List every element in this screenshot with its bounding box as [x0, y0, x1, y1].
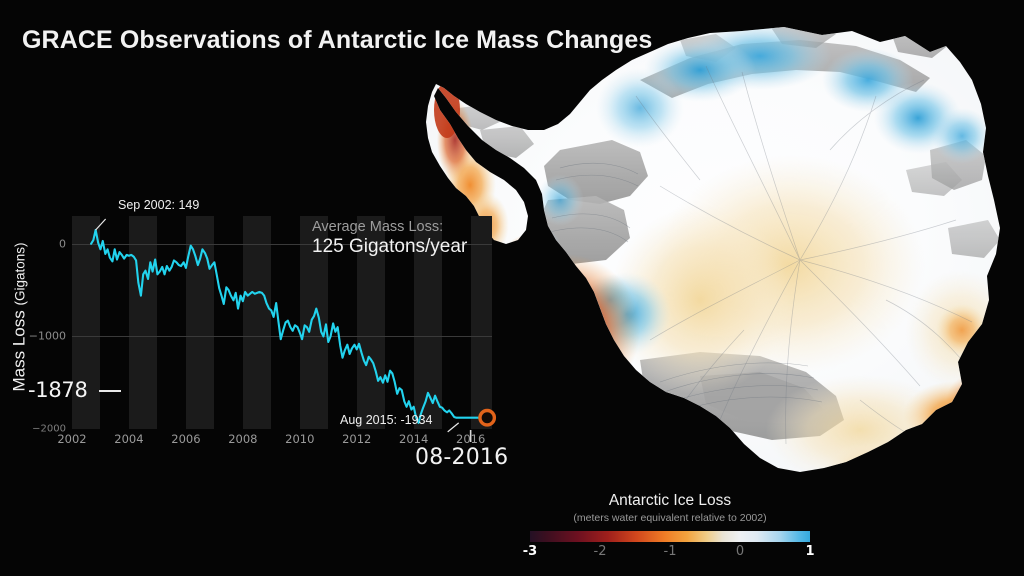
x-tick-label: 2012: [342, 432, 371, 446]
colorbar-tick: 1: [805, 544, 814, 559]
page-title: GRACE Observations of Antarctic Ice Mass…: [22, 26, 652, 55]
map-flowlines: [636, 66, 978, 452]
x-tick-label: 2014: [399, 432, 428, 446]
y-axis-label-main: Mass Loss: [9, 310, 28, 391]
gridline: [72, 429, 492, 430]
x-tick-label: 2008: [228, 432, 257, 446]
colorbar-tick: 0: [736, 544, 744, 559]
map-ice-shelves: [458, 22, 1000, 440]
colorbar-tick: -1: [664, 544, 677, 559]
map-shelf-striations: [550, 163, 822, 412]
colorbar-gradient: [530, 531, 810, 542]
average-mass-loss-callout: Average Mass Loss: 125 Gigatons/year: [312, 218, 467, 259]
x-tick-label: 2004: [114, 432, 143, 446]
map-anomaly-layer: [434, 22, 1015, 494]
annotation-trough: Aug 2015: -1934: [340, 413, 432, 427]
colorbar-title: Antarctic Ice Loss: [500, 492, 840, 511]
colorbar-subtitle: (meters water equivalent relative to 200…: [500, 512, 840, 525]
current-date-label: 08-2016: [415, 445, 508, 470]
y-tick-label: −1000: [29, 330, 66, 343]
y-axis-label-unit: (Gigatons): [12, 242, 27, 305]
x-tick-label: 2010: [285, 432, 314, 446]
current-value-label: -1878: [28, 378, 88, 402]
current-point-marker: [480, 411, 494, 425]
y-tick-label: 0: [59, 237, 66, 250]
visualization-canvas: GRACE Observations of Antarctic Ice Mass…: [0, 0, 1024, 576]
average-mass-loss-value: 125 Gigatons/year: [312, 236, 467, 259]
colorbar-tick-labels: -3-2-101: [500, 542, 840, 560]
colorbar-tick: -2: [594, 544, 607, 559]
annotation-peak: Sep 2002: 149: [118, 198, 199, 212]
colorbar-legend: Antarctic Ice Loss (meters water equival…: [500, 492, 840, 560]
x-tick-label: 2002: [57, 432, 86, 446]
x-tick-label: 2006: [171, 432, 200, 446]
current-value-dash: [99, 390, 121, 392]
colorbar-tick: -3: [523, 544, 537, 559]
average-mass-loss-caption: Average Mass Loss:: [312, 218, 467, 236]
